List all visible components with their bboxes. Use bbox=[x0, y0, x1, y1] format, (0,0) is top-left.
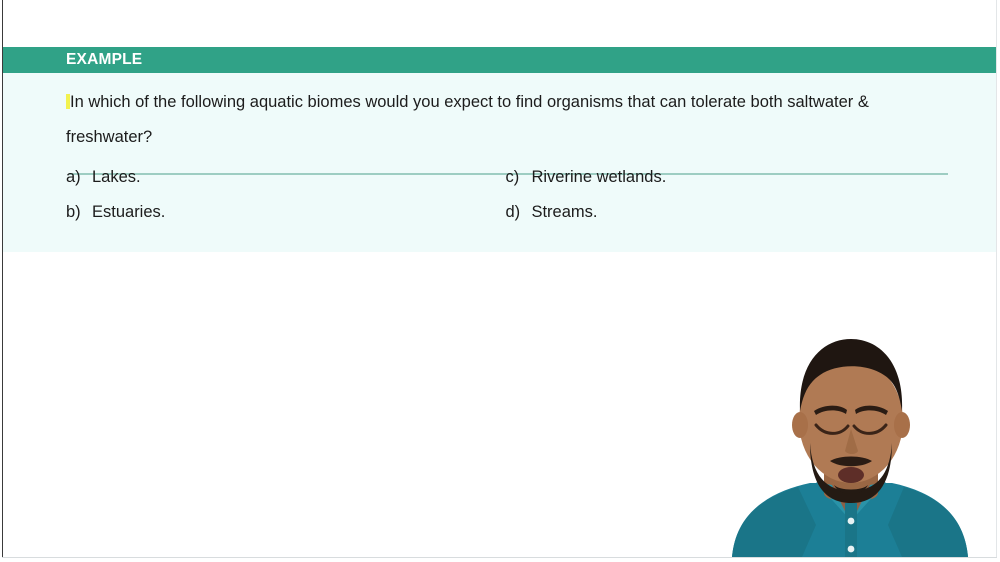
answer-option-c-letter: c) bbox=[505, 168, 531, 187]
answer-option-c-text: Riverine wetlands. bbox=[531, 168, 666, 187]
answer-options: a) Lakes. b) Estuaries. c) Riverine wetl… bbox=[3, 155, 996, 252]
answer-column-left: a) Lakes. b) Estuaries. bbox=[66, 168, 505, 238]
slide-canvas: EXAMPLE In which of the following aquati… bbox=[0, 0, 1000, 562]
question-line-1: In which of the following aquatic biomes… bbox=[70, 93, 869, 111]
example-body: In which of the following aquatic biomes… bbox=[3, 73, 996, 252]
answer-option-a[interactable]: a) Lakes. bbox=[66, 168, 505, 203]
answer-option-d[interactable]: d) Streams. bbox=[505, 203, 933, 238]
answer-option-a-text: Lakes. bbox=[92, 168, 141, 187]
answer-option-b-letter: b) bbox=[66, 203, 92, 222]
question-text: In which of the following aquatic biomes… bbox=[3, 73, 996, 155]
example-header-label: EXAMPLE bbox=[66, 51, 142, 69]
answer-option-b[interactable]: b) Estuaries. bbox=[66, 203, 505, 238]
answer-option-c[interactable]: c) Riverine wetlands. bbox=[505, 168, 933, 203]
answer-option-d-letter: d) bbox=[505, 203, 531, 222]
answer-option-a-letter: a) bbox=[66, 168, 92, 187]
slide-bottom-border bbox=[2, 557, 997, 558]
presenter-portrait bbox=[706, 325, 996, 557]
answer-column-right: c) Riverine wetlands. d) Streams. bbox=[505, 168, 933, 238]
presenter-video-overlay[interactable] bbox=[706, 325, 996, 557]
slide-right-border bbox=[996, 0, 997, 558]
answer-option-b-text: Estuaries. bbox=[92, 203, 165, 222]
answer-option-d-text: Streams. bbox=[531, 203, 597, 222]
example-header-bar: EXAMPLE bbox=[3, 47, 996, 73]
example-card: EXAMPLE In which of the following aquati… bbox=[3, 47, 996, 252]
question-line-2: freshwater? bbox=[66, 128, 152, 146]
